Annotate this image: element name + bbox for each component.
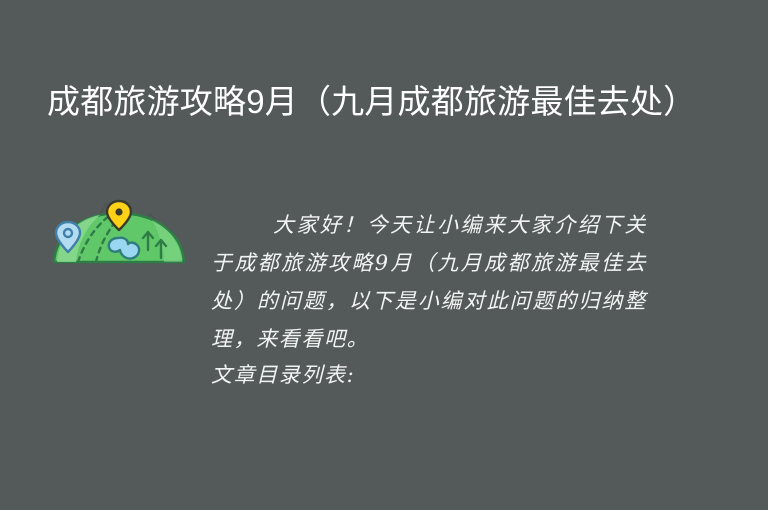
- page-title: 成都旅游攻略9月（九月成都旅游最佳去处）: [47, 77, 707, 126]
- toc-heading: 文章目录列表:: [211, 358, 647, 392]
- article-page: 成都旅游攻略9月（九月成都旅游最佳去处）: [0, 0, 768, 510]
- map-terrain-illustration: [44, 198, 194, 270]
- intro-paragraph: 大家好！今天让小编来大家介绍下关于成都旅游攻略9月（九月成都旅游最佳去处）的问题…: [211, 206, 647, 358]
- article-body: 大家好！今天让小编来大家介绍下关于成都旅游攻略9月（九月成都旅游最佳去处）的问题…: [211, 206, 647, 392]
